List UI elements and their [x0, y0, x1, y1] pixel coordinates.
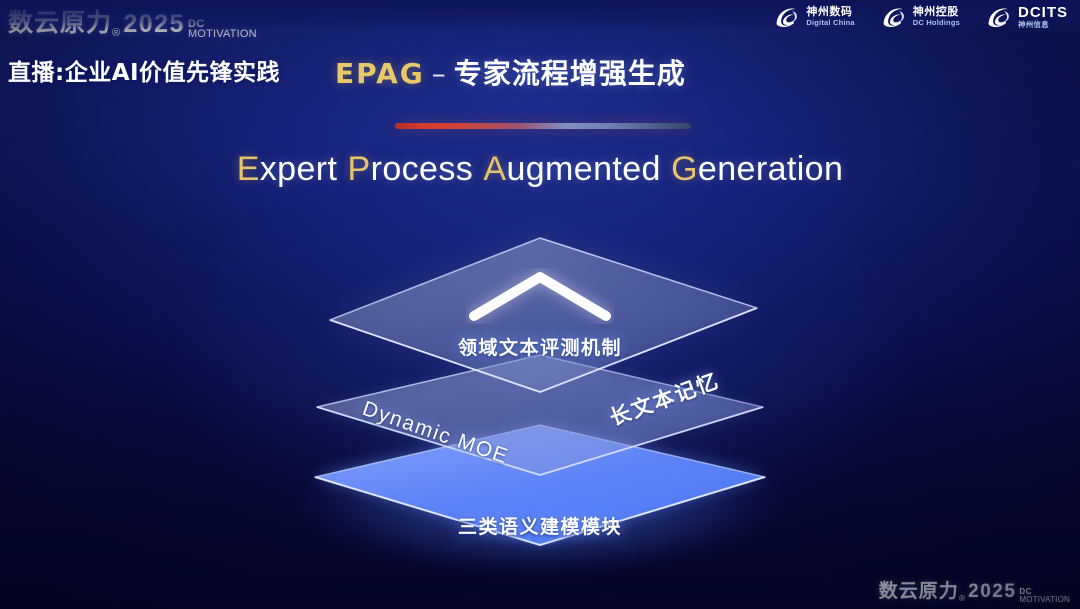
english-subtitle: ExpertProcessAugmentedGeneration [0, 150, 1080, 189]
swirl-icon [986, 5, 1012, 29]
partner-name-en: 神州信息 [1018, 21, 1068, 29]
word-capital: P [348, 150, 371, 188]
partner-logo-dcits: DCITS 神州信息 [986, 5, 1068, 29]
partner-text: DCITS 神州信息 [1018, 5, 1068, 29]
partner-logo-group: 神州数码 Digital China 神州控股 DC Holdings [774, 5, 1068, 29]
english-word-expert: Expert [237, 150, 338, 188]
word-remainder: eneration [698, 150, 843, 188]
page-title: EPAG–专家流程增强生成 [335, 52, 686, 92]
swirl-icon [881, 5, 907, 29]
word-remainder: rocess [371, 150, 474, 188]
partner-name-en: DC Holdings [913, 19, 960, 27]
partner-text: 神州数码 Digital China [806, 7, 854, 26]
word-capital: A [483, 150, 506, 188]
partner-logo-dc-holdings: 神州控股 DC Holdings [881, 5, 960, 29]
layer-plate-top [330, 238, 757, 392]
swirl-icon [774, 5, 800, 29]
word-capital: E [237, 150, 260, 188]
english-word-process: Process [348, 150, 474, 188]
partner-text: 神州控股 DC Holdings [913, 7, 960, 26]
english-word-augmented: Augmented [483, 150, 661, 188]
word-remainder: xpert [260, 150, 338, 188]
word-capital: G [671, 150, 698, 188]
word-remainder: ugmented [506, 150, 660, 188]
partner-name-cn: DCITS [1018, 5, 1068, 21]
page-title-cn: 专家流程增强生成 [454, 57, 686, 90]
page-title-dash: – [432, 57, 447, 90]
live-banner-label: 直播:企业AI价值先锋实践 [8, 53, 280, 87]
page-title-acronym: EPAG [335, 57, 425, 90]
partner-name-en: Digital China [806, 19, 854, 27]
english-word-generation: Generation [671, 150, 843, 188]
slide-canvas: 数云原力 ® 2025 DC MOTIVATION 神州数码 Digital C… [0, 0, 1080, 609]
gradient-divider [395, 123, 691, 129]
partner-logo-digital-china: 神州数码 Digital China [774, 5, 854, 29]
